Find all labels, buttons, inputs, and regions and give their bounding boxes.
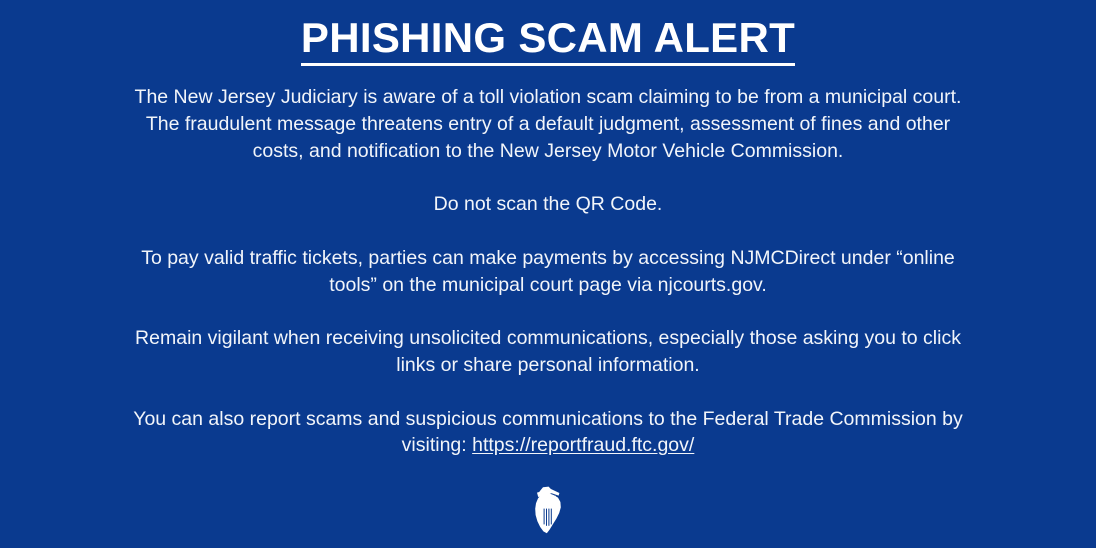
alert-body: The New Jersey Judiciary is aware of a t… [108,84,988,459]
page-title: PHISHING SCAM ALERT [301,14,795,66]
paragraph-do-not-scan: Do not scan the QR Code. [118,191,978,218]
paragraph-scam-description: The New Jersey Judiciary is aware of a t… [118,84,978,164]
logo-container [0,486,1096,534]
phishing-scam-alert-slide: PHISHING SCAM ALERT The New Jersey Judic… [0,0,1096,548]
title-container: PHISHING SCAM ALERT [0,14,1096,66]
paragraph-report-ftc: You can also report scams and suspicious… [108,406,988,460]
new-jersey-judiciary-seal-icon [531,486,565,534]
report-fraud-link[interactable]: https://reportfraud.ftc.gov/ [472,434,694,456]
paragraph-how-to-pay: To pay valid traffic tickets, parties ca… [118,245,978,299]
paragraph-remain-vigilant: Remain vigilant when receiving unsolicit… [118,325,978,379]
